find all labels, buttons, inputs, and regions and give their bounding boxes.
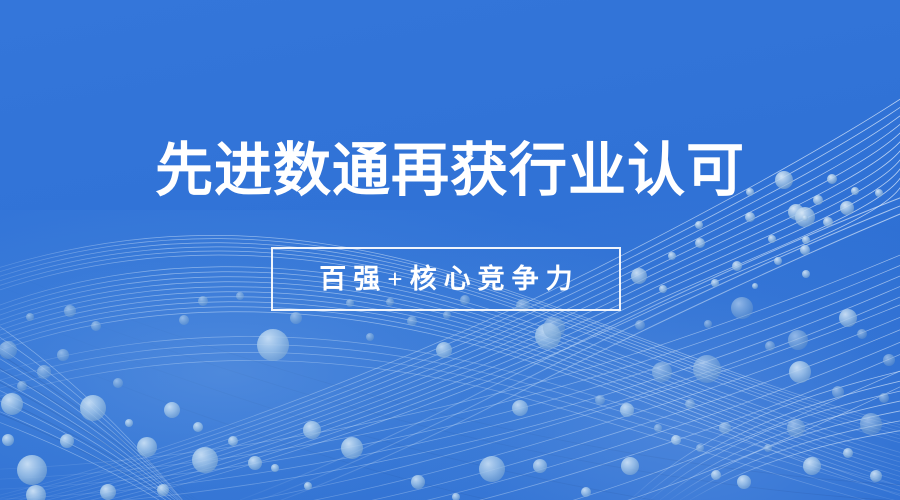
banner-subtitle: 百强+核心竞争力	[312, 264, 579, 294]
banner-title: 先进数通再获行业认可	[0, 136, 900, 206]
promo-banner: 先进数通再获行业认可 百强+核心竞争力	[0, 0, 900, 500]
banner-content: 先进数通再获行业认可 百强+核心竞争力	[0, 0, 900, 500]
subtitle-box: 百强+核心竞争力	[271, 247, 621, 311]
